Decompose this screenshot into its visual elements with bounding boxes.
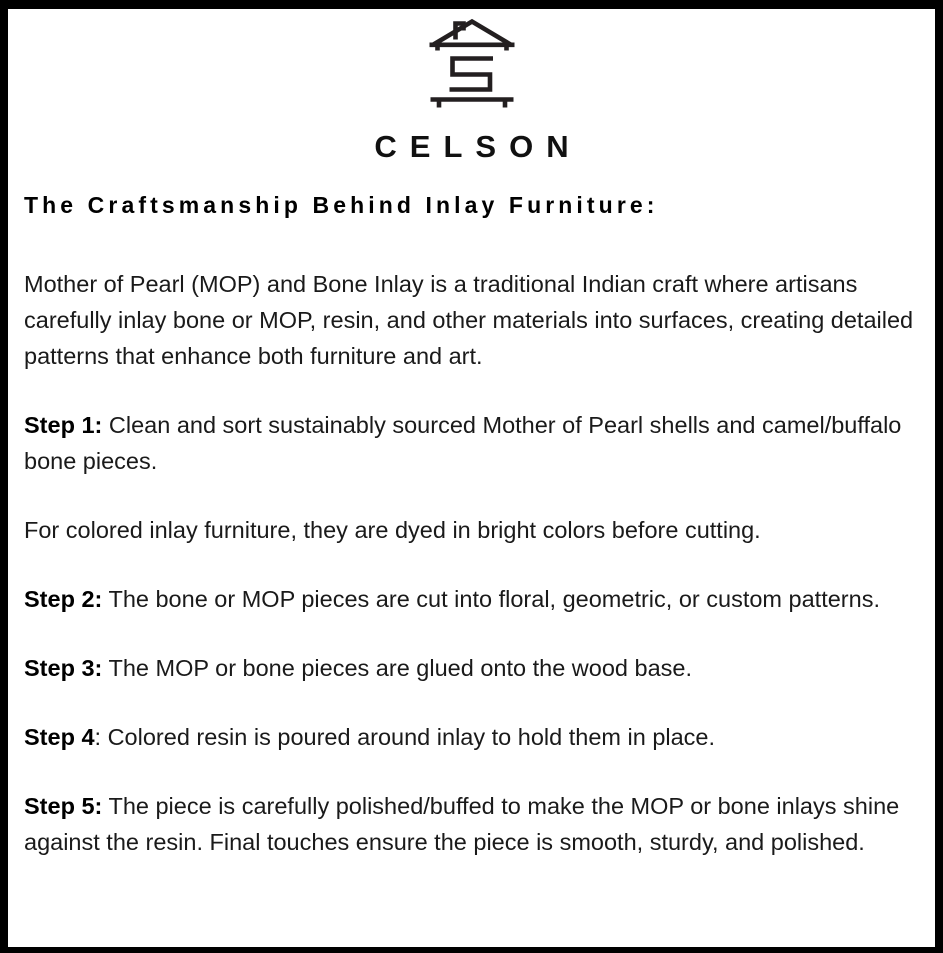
house-monogram-logo-icon (424, 17, 520, 115)
step-label: Step 2: (24, 586, 102, 612)
paragraph-intro: Mother of Pearl (MOP) and Bone Inlay is … (24, 266, 922, 374)
body-copy: Mother of Pearl (MOP) and Bone Inlay is … (24, 266, 922, 860)
paragraph-step-1: Step 1: Clean and sort sustainably sourc… (24, 407, 922, 479)
paragraph-text: : Colored resin is poured around inlay t… (95, 724, 716, 750)
paragraph-step-5: Step 5: The piece is carefully polished/… (24, 788, 922, 860)
page-title: The Craftsmanship Behind Inlay Furniture… (24, 192, 927, 220)
paragraph-colored-inlay-note: For colored inlay furniture, they are dy… (24, 512, 922, 548)
poster-inner: CELSON The Craftsmanship Behind Inlay Fu… (8, 9, 935, 947)
paragraph-step-4: Step 4: Colored resin is poured around i… (24, 719, 922, 755)
brand-wordmark: CELSON (16, 131, 927, 162)
paragraph-text: Mother of Pearl (MOP) and Bone Inlay is … (24, 271, 913, 369)
paragraph-text: The bone or MOP pieces are cut into flor… (102, 586, 880, 612)
paragraph-text: For colored inlay furniture, they are dy… (24, 517, 761, 543)
paragraph-step-3: Step 3: The MOP or bone pieces are glued… (24, 650, 922, 686)
paragraph-text: Clean and sort sustainably sourced Mothe… (24, 412, 901, 474)
paragraph-text: The MOP or bone pieces are glued onto th… (102, 655, 692, 681)
step-label: Step 1: (24, 412, 102, 438)
poster-card: CELSON The Craftsmanship Behind Inlay Fu… (0, 0, 943, 953)
step-label: Step 5: (24, 793, 102, 819)
paragraph-step-2: Step 2: The bone or MOP pieces are cut i… (24, 581, 922, 617)
step-label: Step 3: (24, 655, 102, 681)
step-label: Step 4 (24, 724, 95, 750)
brand-block: CELSON (16, 9, 927, 162)
paragraph-text: The piece is carefully polished/buffed t… (24, 793, 899, 855)
